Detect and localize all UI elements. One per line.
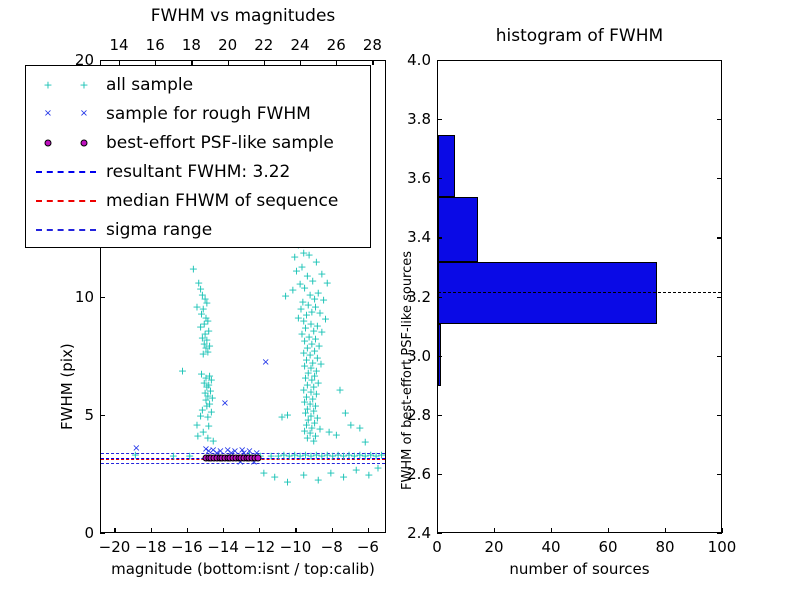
scatter-point-all: +: [299, 247, 308, 258]
dashdot-line-icon: [36, 229, 96, 231]
histogram-ytick-mark: [437, 237, 442, 238]
scatter-point-all: +: [201, 395, 210, 406]
scatter-point-all: +: [200, 338, 209, 349]
legend-entry: median FHWM of sequence: [30, 187, 338, 215]
scatter-ytick-label: 0: [54, 524, 94, 542]
scatter-point-all: +: [178, 365, 187, 376]
scatter-point-all: +: [313, 352, 322, 363]
histogram-ytick-mark-right: [717, 119, 722, 120]
reference-line: [101, 463, 385, 464]
scatter-point-all: +: [361, 450, 370, 461]
histogram-xtick-label: 0: [432, 538, 442, 556]
legend-symbol: ××: [30, 100, 102, 128]
scatter-point-all: +: [196, 322, 205, 333]
histogram-xtick-label: 100: [708, 538, 737, 556]
scatter-top-xtick-label: 24: [290, 36, 309, 54]
figure-canvas: FWHM vs magnitudes +++++++++++++++++++++…: [0, 0, 800, 600]
scatter-point-all: +: [355, 422, 364, 433]
scatter-point-all: +: [200, 293, 209, 304]
scatter-point-all: +: [196, 284, 205, 295]
scatter-point-all: +: [200, 377, 209, 388]
scatter-point-all: +: [335, 384, 344, 395]
scatter-point-all: +: [192, 301, 201, 312]
histogram-ytick-mark-right: [717, 237, 722, 238]
scatter-point-all: +: [364, 469, 373, 480]
scatter-ytick-mark: [100, 415, 105, 416]
scatter-top-xtick-label: 26: [327, 36, 346, 54]
histogram-ytick-mark: [437, 474, 442, 475]
scatter-point-rough: ×: [209, 446, 217, 456]
legend-label: all sample: [102, 75, 193, 95]
scatter-point-all: +: [304, 415, 313, 426]
scatter-point-all: +: [299, 469, 308, 480]
histogram-xtick-mark: [722, 528, 723, 533]
scatter-ytick-mark: [100, 297, 105, 298]
scatter-point-all: +: [302, 420, 311, 431]
scatter-point-all: +: [277, 411, 286, 422]
scatter-point-rough: ×: [238, 446, 246, 456]
scatter-point-all: +: [199, 304, 208, 315]
scatter-point-all: +: [303, 403, 312, 414]
scatter-point-all: +: [303, 380, 312, 391]
histogram-xtick-label: 20: [484, 538, 503, 556]
scatter-point-all: +: [202, 382, 211, 393]
scatter-ytick-label: 10: [54, 288, 94, 306]
plus-icon: +: [79, 80, 88, 91]
scatter-xtick-mark: [114, 528, 115, 533]
scatter-point-all: +: [314, 474, 323, 485]
scatter-point-all: +: [312, 257, 321, 268]
scatter-ytick-mark: [100, 533, 105, 534]
scatter-point-all: +: [372, 450, 381, 461]
scatter-point-all: +: [308, 394, 317, 405]
scatter-point-all: +: [317, 450, 326, 461]
scatter-point-all: +: [200, 329, 209, 340]
legend-symbol: ++: [30, 71, 102, 99]
scatter-point-all: +: [197, 309, 206, 320]
scatter-point-all: +: [314, 377, 323, 388]
scatter-point-all: +: [305, 350, 314, 361]
scatter-point-all: +: [189, 264, 198, 275]
scatter-xtick-mark: [259, 528, 260, 533]
scatter-top-xtick-label: 20: [218, 36, 237, 54]
scatter-top-xtick-label: 16: [146, 36, 165, 54]
scatter-point-all: +: [283, 476, 292, 487]
legend-symbol: [30, 129, 102, 157]
histogram-ytick-mark-right: [717, 356, 722, 357]
scatter-point-all: +: [207, 375, 216, 386]
scatter-point-all: +: [199, 349, 208, 360]
scatter-xtick-mark: [332, 528, 333, 533]
scatter-point-all: +: [309, 325, 318, 336]
reference-line: [101, 453, 385, 454]
scatter-point-all: +: [204, 421, 213, 432]
histogram-title: histogram of FWHM: [437, 26, 722, 46]
scatter-xtick-mark: [223, 528, 224, 533]
scatter-point-all: +: [309, 435, 318, 446]
scatter-point-all: +: [301, 408, 310, 419]
histogram-bar: [438, 197, 478, 262]
scatter-xtick-mark: [295, 528, 296, 533]
scatter-point-all: +: [306, 410, 315, 421]
scatter-point-all: +: [316, 358, 325, 369]
scatter-top-xtick-label: 18: [182, 36, 201, 54]
scatter-point-all: +: [332, 429, 341, 440]
histogram-reference-line: [438, 292, 721, 293]
scatter-point-all: +: [198, 332, 207, 343]
scatter-point-all: +: [310, 345, 319, 356]
cross-icon: ×: [44, 109, 52, 119]
scatter-point-all: +: [326, 467, 335, 478]
legend-label: sample for rough FWHM: [102, 104, 311, 124]
scatter-point-all: +: [297, 329, 306, 340]
scatter-top-xtick-label: 22: [254, 36, 273, 54]
scatter-point-all: +: [313, 320, 322, 331]
histogram-ytick-label: 3.8: [389, 110, 431, 128]
legend-symbol: [30, 158, 102, 186]
scatter-point-all: +: [292, 266, 301, 277]
scatter-point-all: +: [302, 391, 311, 402]
scatter-point-all: +: [308, 275, 317, 286]
scatter-xtick-mark: [151, 528, 152, 533]
histogram-ytick-mark-right: [717, 178, 722, 179]
scatter-point-all: +: [209, 435, 218, 446]
scatter-point-all: +: [203, 411, 212, 422]
histogram-ylabel: FWHM of best-effort PSF-like sources: [400, 251, 415, 490]
scatter-point-all: +: [341, 408, 350, 419]
scatter-point-all: +: [319, 294, 328, 305]
scatter-point-all: +: [307, 306, 316, 317]
scatter-point-all: +: [203, 433, 212, 444]
scatter-point-all: +: [198, 404, 207, 415]
legend-label: sigma range: [102, 220, 212, 240]
scatter-xtick-label: −12: [243, 538, 275, 556]
scatter-point-all: +: [307, 338, 316, 349]
scatter-title: FWHM vs magnitudes: [100, 6, 386, 26]
scatter-point-all: +: [310, 293, 319, 304]
scatter-point-all: +: [305, 290, 314, 301]
scatter-point-all: +: [311, 333, 320, 344]
scatter-point-all: +: [200, 318, 209, 329]
scatter-point-all: +: [204, 325, 213, 336]
scatter-ytick-mark: [100, 60, 105, 61]
scatter-point-all: +: [299, 384, 308, 395]
scatter-point-all: +: [267, 450, 276, 461]
scatter-point-all: +: [306, 387, 315, 398]
scatter-xtick-label: −20: [99, 538, 131, 556]
scatter-point-all: +: [361, 436, 370, 447]
scatter-point-all: +: [199, 427, 208, 438]
scatter-xtick-mark: [187, 528, 188, 533]
scatter-point-all: +: [306, 363, 315, 374]
scatter-point-all: +: [352, 465, 361, 476]
scatter-point-all: +: [321, 313, 330, 324]
legend: ++all sample××sample for rough FWHMbest-…: [25, 65, 371, 248]
scatter-point-all: +: [315, 307, 324, 318]
scatter-point-all: +: [311, 430, 320, 441]
scatter-point-all: +: [300, 283, 309, 294]
scatter-point-all: +: [207, 407, 216, 418]
scatter-point-all: +: [204, 380, 213, 391]
scatter-point-all: +: [302, 355, 311, 366]
scatter-point-all: +: [198, 290, 207, 301]
legend-entry: sigma range: [30, 216, 212, 244]
scatter-point-all: +: [309, 406, 318, 417]
scatter-point-all: +: [197, 369, 206, 380]
scatter-point-all: +: [304, 368, 313, 379]
histogram-ytick-mark: [437, 415, 442, 416]
scatter-point-all: +: [294, 312, 303, 323]
histogram-plot-area: [438, 61, 721, 532]
scatter-point-all: +: [306, 318, 315, 329]
scatter-point-all: +: [301, 323, 310, 334]
scatter-xtick-label: −10: [280, 538, 312, 556]
scatter-point-all: +: [270, 472, 279, 483]
histogram-xtick-label: 60: [598, 538, 617, 556]
scatter-point-all: +: [346, 420, 355, 431]
scatter-point-all: +: [306, 450, 315, 461]
scatter-point-all: +: [301, 372, 310, 383]
scatter-point-all: +: [305, 331, 314, 342]
histogram-xtick-mark: [551, 528, 552, 533]
scatter-point-all: +: [194, 278, 203, 289]
histogram-ytick-label: 4.0: [389, 51, 431, 69]
scatter-point-all: +: [298, 297, 307, 308]
legend-entry: ++all sample: [30, 71, 193, 99]
histogram-ytick-mark-right: [717, 60, 722, 61]
scatter-point-all: +: [288, 285, 297, 296]
histogram-ytick-mark: [437, 119, 442, 120]
legend-label: median FHWM of sequence: [102, 191, 338, 211]
scatter-point-all: +: [309, 382, 318, 393]
scatter-point-all: +: [202, 401, 211, 412]
reference-line: [101, 459, 385, 460]
plus-icon: +: [43, 80, 52, 91]
scatter-point-all: +: [300, 336, 309, 347]
scatter-point-all: +: [303, 343, 312, 354]
histogram-ytick-mark: [437, 356, 442, 357]
cross-icon: ×: [80, 109, 88, 119]
scatter-point-all: +: [283, 409, 292, 420]
scatter-point-all: +: [300, 361, 309, 372]
dashed-line-icon: [36, 171, 96, 173]
scatter-point-all: +: [317, 326, 326, 337]
scatter-point-all: +: [314, 287, 323, 298]
scatter-xtick-label: −8: [321, 538, 343, 556]
scatter-point-all: +: [323, 278, 332, 289]
scatter-xtick-label: −18: [135, 538, 167, 556]
scatter-point-all: +: [201, 312, 210, 323]
scatter-point-all: +: [205, 370, 214, 381]
histogram-ytick-mark-right: [717, 297, 722, 298]
scatter-point-all: +: [203, 316, 212, 327]
scatter-point-all: +: [303, 271, 312, 282]
scatter-point-all: +: [205, 398, 214, 409]
histogram-ytick-mark-right: [717, 474, 722, 475]
scatter-point-all: +: [281, 291, 290, 302]
scatter-xtick-mark: [368, 528, 369, 533]
scatter-point-all: +: [305, 398, 314, 409]
scatter-point-all: +: [297, 261, 306, 272]
scatter-point-all: +: [339, 472, 348, 483]
scatter-xlabel: magnitude (bottom:isnt / top:calib): [60, 560, 426, 578]
legend-label: resultant FWHM: 3.22: [102, 162, 290, 182]
scatter-point-all: +: [202, 298, 211, 309]
scatter-ylabel: FWHM (pix): [58, 343, 76, 430]
scatter-point-all: +: [300, 426, 309, 437]
histogram-ytick-label: 3.4: [389, 228, 431, 246]
scatter-point-all: +: [307, 375, 316, 386]
legend-entry: ××sample for rough FWHM: [30, 100, 311, 128]
scatter-point-all: +: [310, 370, 319, 381]
legend-symbol: [30, 187, 102, 215]
scatter-point-all: +: [315, 423, 324, 434]
scatter-top-xtick-mark: [372, 60, 373, 65]
scatter-point-all: +: [206, 385, 215, 396]
histogram-xtick-mark: [608, 528, 609, 533]
scatter-point-all: +: [311, 301, 320, 312]
scatter-point-all: +: [315, 340, 324, 351]
scatter-xtick-label: −16: [171, 538, 203, 556]
circle-icon: [81, 140, 88, 147]
scatter-xtick-label: −6: [357, 538, 379, 556]
scatter-point-all: +: [311, 401, 320, 412]
scatter-point-all: +: [303, 433, 312, 444]
scatter-top-xtick-label: 28: [363, 36, 382, 54]
scatter-point-all: +: [350, 450, 359, 461]
histogram-xtick-mark: [494, 528, 495, 533]
scatter-point-all: +: [200, 388, 209, 399]
scatter-point-all: +: [296, 279, 305, 290]
scatter-point-all: +: [196, 410, 205, 421]
legend-entry: best-effort PSF-like sample: [30, 129, 334, 157]
scatter-point-all: +: [274, 450, 283, 461]
scatter-point-all: +: [201, 372, 210, 383]
scatter-point-all: +: [296, 450, 305, 461]
histogram-ytick-mark: [437, 178, 442, 179]
scatter-point-all: +: [203, 390, 212, 401]
scatter-point-all: +: [304, 299, 313, 310]
scatter-point-all: +: [324, 427, 333, 438]
histogram-ytick-mark-right: [717, 533, 722, 534]
scatter-point-all: +: [203, 346, 212, 357]
histogram-ytick-mark: [437, 297, 442, 298]
scatter-point-all: +: [299, 316, 308, 327]
scatter-point-all: +: [185, 450, 194, 461]
scatter-point-all: +: [307, 422, 316, 433]
scatter-point-all: +: [205, 340, 214, 351]
scatter-point-all: +: [302, 310, 311, 321]
histogram-xtick-mark: [665, 528, 666, 533]
scatter-point-all: +: [202, 335, 211, 346]
scatter-point-all: +: [312, 389, 321, 400]
scatter-point-all: +: [290, 252, 299, 263]
scatter-point-all: +: [169, 450, 178, 461]
scatter-point-all: +: [256, 450, 265, 461]
scatter-point-all: +: [259, 467, 268, 478]
dashed-line-icon: [36, 200, 96, 202]
scatter-point-rough: ×: [221, 399, 229, 409]
histogram-bar: [438, 135, 455, 197]
scatter-point-all: +: [300, 396, 309, 407]
scatter-xtick-label: −14: [207, 538, 239, 556]
histogram-ytick-mark: [437, 60, 442, 61]
histogram-xtick-label: 40: [541, 538, 560, 556]
scatter-point-all: +: [312, 365, 321, 376]
legend-symbol: [30, 216, 102, 244]
scatter-point-all: +: [339, 450, 348, 461]
scatter-point-all: +: [193, 430, 202, 441]
scatter-point-all: +: [201, 343, 210, 354]
scatter-point-all: +: [296, 304, 305, 315]
legend-entry: resultant FWHM: 3.22: [30, 158, 290, 186]
scatter-point-rough: ×: [262, 358, 270, 368]
scatter-point-all: +: [317, 268, 326, 279]
histogram-xlabel: number of sources: [437, 560, 722, 578]
scatter-point-all: +: [310, 417, 319, 428]
histogram-ytick-label: 3.6: [389, 169, 431, 187]
scatter-point-all: +: [328, 450, 337, 461]
scatter-point-all: +: [285, 450, 294, 461]
scatter-point-all: +: [308, 357, 317, 368]
scatter-point-all: +: [305, 428, 314, 439]
scatter-point-all: +: [299, 348, 308, 359]
histogram-xtick-label: 80: [655, 538, 674, 556]
histogram-axes: [437, 60, 722, 533]
histogram-ytick-mark-right: [717, 415, 722, 416]
scatter-point-all: +: [305, 249, 314, 260]
histogram-ytick-label: 2.4: [389, 524, 431, 542]
histogram-ytick-mark: [437, 533, 442, 534]
legend-label: best-effort PSF-like sample: [102, 133, 334, 153]
scatter-point-all: +: [192, 420, 201, 431]
scatter-point-all: +: [313, 413, 322, 424]
scatter-point-rough: ×: [224, 446, 232, 456]
scatter-point-all: +: [208, 393, 217, 404]
scatter-top-xtick-label: 14: [109, 36, 128, 54]
circle-icon: [45, 140, 52, 147]
histogram-bar: [438, 262, 657, 324]
